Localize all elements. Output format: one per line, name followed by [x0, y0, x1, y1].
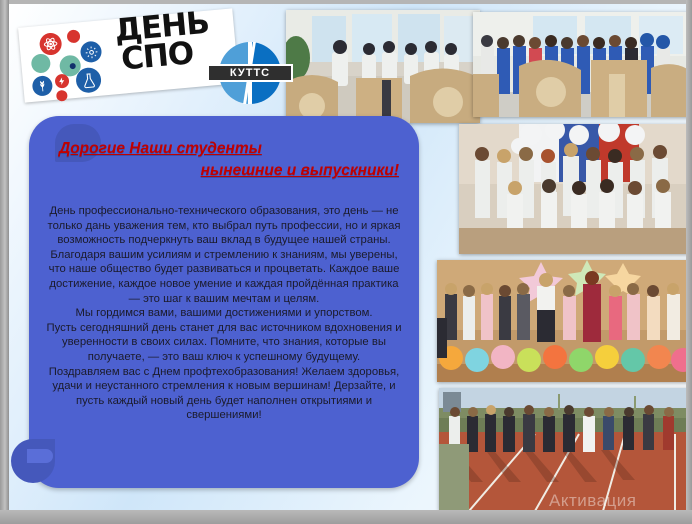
frame-left-edge [0, 0, 9, 524]
greeting-headline-line2: нынешние и выпускники! [47, 160, 405, 182]
windows-activation-watermark: Активация Windows [549, 491, 686, 510]
den-spo-logo-card: ДЕНЬ СПО [18, 8, 239, 102]
frame-right-edge [686, 0, 692, 524]
kuttc-label-box: КУТТС [207, 64, 293, 82]
logo-wordmark: ДЕНЬ СПО [113, 9, 212, 74]
wheat-icon [32, 75, 54, 97]
greeting-headline: Дорогие Наши студенты нынешние и выпускн… [47, 138, 405, 183]
watermark-line1: Активация Windows [549, 491, 636, 510]
flask-icon [75, 67, 102, 94]
greeting-paragraph: Поздравляем вас с Днем профтехобразовани… [43, 365, 405, 423]
gear-icon [80, 40, 103, 63]
photo4-artwork [437, 260, 686, 382]
photo2-artwork [473, 12, 686, 117]
greeting-paragraph: Благодаря вашим усилиям и стремлению к з… [43, 248, 405, 306]
greeting-body: День профессионально-технического образо… [43, 204, 405, 423]
photo-group-blue-shirts [473, 12, 686, 117]
plain-bubble-red-bottom [56, 90, 68, 102]
frame-bottom-edge [0, 510, 692, 524]
panel-knob-bar-decoration [27, 449, 53, 463]
kuttc-abbreviation: КУТТС [209, 66, 291, 80]
slide-canvas: ДЕНЬ СПО КУТТС Дорогие Наши студенты нын… [0, 0, 692, 524]
logo-word-line2: СПО [120, 37, 213, 74]
photo-stage-concert-balloons [437, 260, 686, 382]
greeting-panel: Дорогие Наши студенты нынешние и выпускн… [29, 116, 419, 488]
bolt-icon [54, 74, 69, 89]
kuttc-college-mark: КУТТС [219, 42, 281, 104]
greeting-paragraph: Мы гордимся вами, вашими достижениями и … [43, 306, 405, 321]
plain-bubble-green-left [31, 53, 52, 74]
photo-students-cardboard-letters [286, 10, 480, 123]
greeting-paragraph: День профессионально-технического образо… [43, 204, 405, 248]
atom-icon [39, 32, 63, 56]
photo3-artwork [459, 124, 686, 254]
plain-bubble-red-top [66, 29, 80, 43]
photo-group-white-shirts-flag [459, 124, 686, 254]
greeting-paragraph: Пусть сегодняшний день станет для вас ис… [43, 321, 405, 365]
logo-bubble-cluster [27, 25, 120, 97]
slide-content-area: ДЕНЬ СПО КУТТС Дорогие Наши студенты нын… [9, 4, 686, 510]
photo1-artwork [286, 10, 480, 123]
greeting-headline-line1: Дорогие Наши студенты [47, 138, 405, 160]
